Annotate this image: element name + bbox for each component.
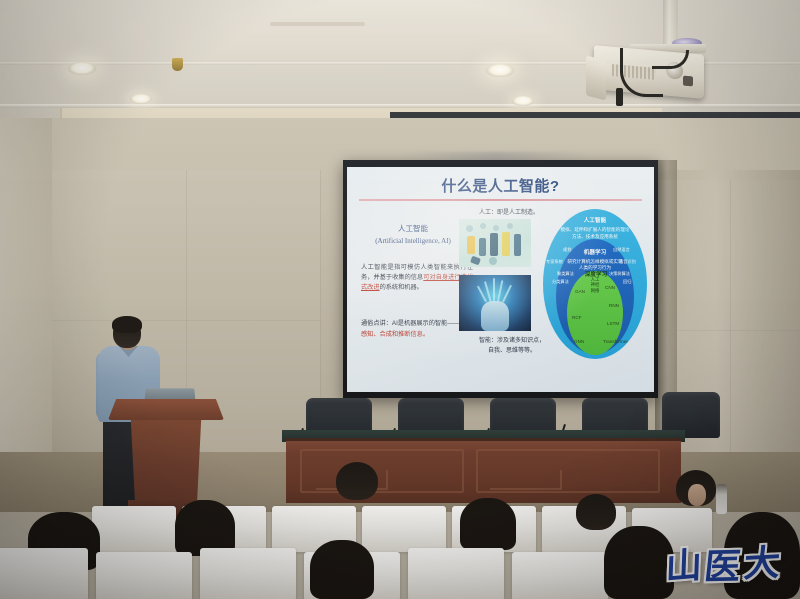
slide-title: 什么是人工智能? bbox=[347, 175, 654, 196]
paragraph-part-1: 人工智能是指可模仿人类智能来执行任 bbox=[361, 264, 473, 271]
slide-title-rule bbox=[359, 199, 642, 201]
illustration-dot bbox=[480, 223, 486, 229]
wall-tile bbox=[52, 170, 187, 321]
hand-ray bbox=[493, 278, 495, 303]
tech-people-illustration bbox=[459, 219, 531, 267]
audience-head bbox=[336, 462, 378, 500]
glowing-hand-ai-image bbox=[459, 275, 531, 331]
hand-palm bbox=[481, 301, 509, 331]
projector-knob bbox=[683, 76, 693, 87]
venn-ml-lower-left: 分类算法 bbox=[552, 279, 569, 285]
projector-plug bbox=[616, 88, 623, 106]
illustration-dot bbox=[507, 223, 513, 229]
slide-paragraph: 人工智能是指可模仿人类智能来执行任务，并基于收集的信息可对自身进行迭代式改进的系… bbox=[361, 263, 473, 294]
watermark-logo: 山 医 大 bbox=[652, 534, 793, 591]
intelligence-line-2: 自我、思维等等。 bbox=[488, 348, 536, 354]
audience-chair bbox=[408, 548, 504, 599]
audience-head bbox=[576, 494, 616, 530]
ai-ml-dl-venn-diagram: 人工智能 模拟、延伸和扩展人的智能的理论 方法、技术及应用系统 规划 自然语言 … bbox=[543, 209, 647, 359]
watermark-char: 医 bbox=[702, 538, 744, 591]
slide-heading: 人工智能 bbox=[361, 223, 465, 234]
note-plain: 通俗点讲：AI是机器展示的智能—— bbox=[361, 320, 460, 327]
venn-ai-side-left: 规划 bbox=[563, 247, 571, 253]
illustration-figure bbox=[467, 236, 475, 254]
venn-ml-side-left: 聚类算法 bbox=[557, 271, 574, 277]
ceiling-vent bbox=[270, 22, 365, 26]
audience-chair bbox=[0, 548, 88, 599]
watermark-char: 山 bbox=[665, 536, 703, 591]
illustration-dot bbox=[489, 257, 497, 265]
note-emphasis: 感知、合成和推断信息。 bbox=[361, 331, 429, 338]
water-bottle bbox=[716, 484, 727, 514]
illustration-shape bbox=[470, 256, 481, 266]
watermark-char: 大 bbox=[742, 534, 782, 588]
audience-face bbox=[688, 484, 706, 506]
paragraph-part-3: 的系统和机器。 bbox=[380, 284, 423, 291]
sprinkler-head-icon bbox=[172, 58, 183, 71]
downlight bbox=[512, 96, 534, 106]
venn-dl-model: CNN bbox=[605, 285, 615, 290]
illustration-dot bbox=[493, 225, 499, 231]
wall-tile bbox=[186, 170, 321, 321]
illustration-figure bbox=[514, 234, 521, 256]
audience-chair bbox=[200, 548, 296, 599]
audience-head bbox=[310, 540, 374, 599]
audience-chair bbox=[96, 552, 192, 599]
audience-head bbox=[460, 498, 516, 550]
venn-dl-left-model: GAN bbox=[575, 289, 585, 294]
venn-ai-title: 人工智能 bbox=[570, 217, 620, 225]
speaker-hair bbox=[112, 316, 142, 333]
lecture-hall-photo: 什么是人工智能? 人工智能 (Artificial Intelligence, … bbox=[0, 0, 800, 599]
downlight bbox=[68, 62, 96, 75]
illustration-figure bbox=[502, 232, 510, 256]
audience-chair bbox=[92, 506, 176, 552]
venn-ai-desc-1: 模拟、延伸和扩展人的智能的理论 bbox=[559, 227, 631, 234]
projection-screen: 什么是人工智能? 人工智能 (Artificial Intelligence, … bbox=[347, 167, 654, 392]
venn-dl-model: RNN bbox=[609, 303, 619, 308]
venn-dl-center-label: 人工神经网络 bbox=[589, 277, 601, 293]
illustration-figure bbox=[479, 238, 486, 256]
venn-ai-desc-2: 方法、技术及应用系统 bbox=[565, 234, 625, 241]
wall-tile bbox=[660, 180, 731, 331]
downlight bbox=[486, 64, 514, 77]
venn-ml-title: 机器学习 bbox=[572, 249, 618, 257]
podium-top bbox=[108, 399, 224, 420]
wall-left-column bbox=[0, 118, 52, 488]
audience-chair bbox=[512, 552, 608, 599]
intelligence-line-1: 智能：涉及诸多知识点， bbox=[479, 338, 545, 344]
venn-dl-left-model: GNN bbox=[574, 339, 584, 344]
desk-chevron bbox=[490, 470, 562, 490]
wall-tile bbox=[730, 180, 800, 331]
venn-dl-model: LSTM bbox=[607, 321, 619, 326]
downlight bbox=[130, 94, 152, 104]
illustration-dot bbox=[466, 225, 473, 232]
paragraph-part-2: 务，并基于收集的信息 bbox=[361, 274, 423, 281]
hand-ray bbox=[502, 285, 512, 303]
venn-dl-model: Transformer bbox=[603, 339, 628, 344]
projector-front bbox=[586, 56, 606, 101]
wall-tile bbox=[730, 330, 800, 471]
illustration-figure bbox=[490, 233, 498, 256]
slide-subheading: (Artificial Intelligence, AI) bbox=[353, 237, 473, 245]
audience-chair bbox=[362, 506, 446, 552]
venn-ml-lower-right: 回归 bbox=[623, 279, 631, 285]
venn-dl-left-model: RCF bbox=[572, 315, 581, 320]
